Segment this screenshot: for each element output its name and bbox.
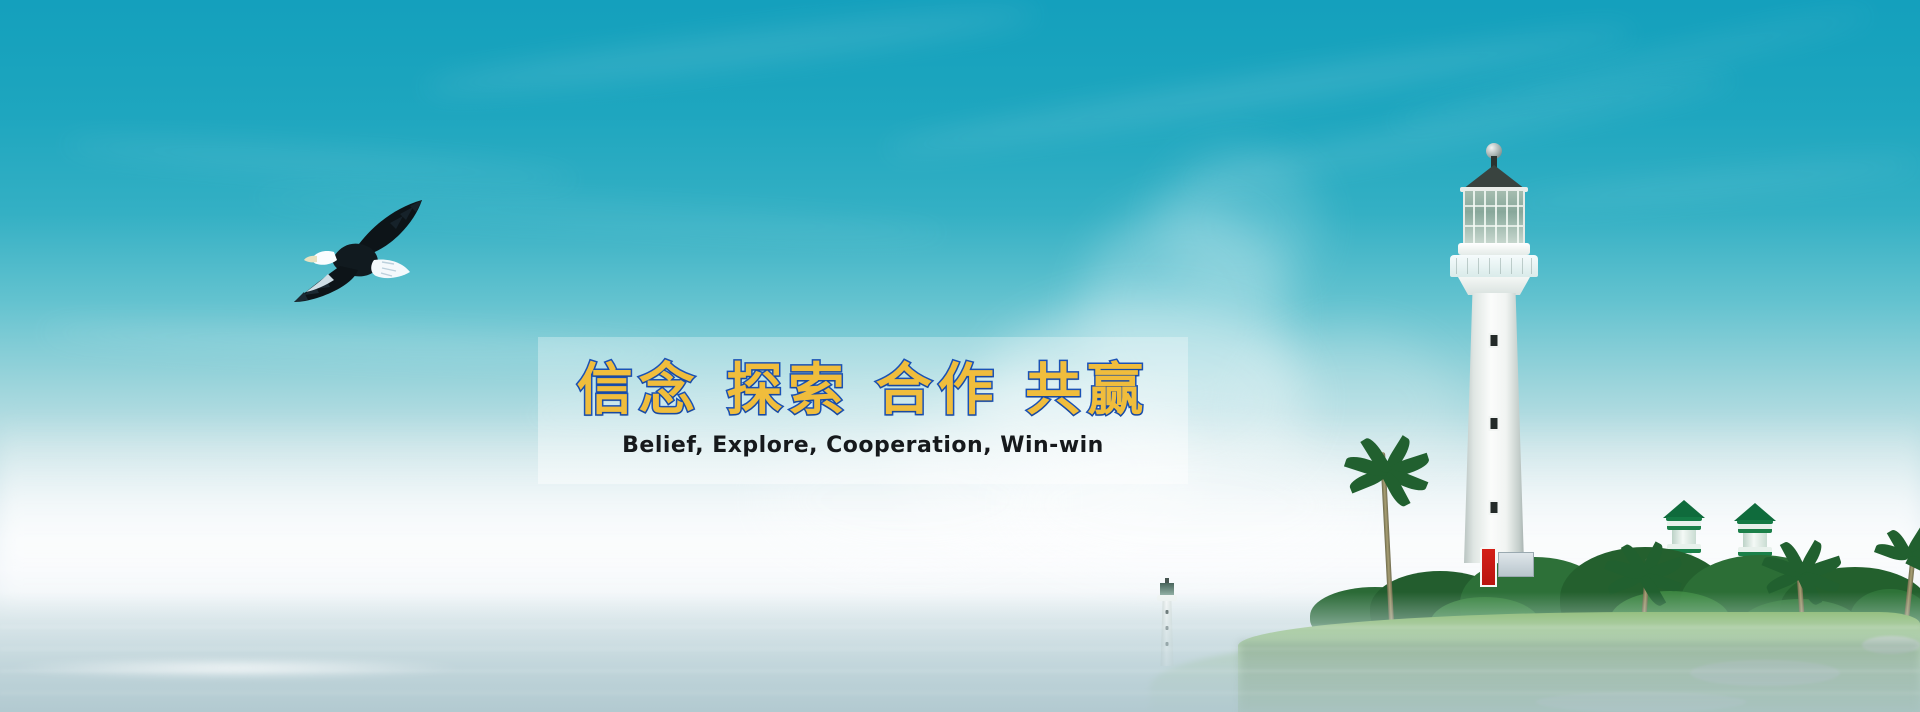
hero-banner: 信念 探索 合作 共赢 Belief, Explore, Cooperation… — [0, 0, 1920, 712]
headline-panel: 信念 探索 合作 共赢 Belief, Explore, Cooperation… — [538, 337, 1188, 484]
lighthouse-icon — [1433, 143, 1555, 563]
headline-chinese: 信念 探索 合作 共赢 — [577, 363, 1150, 419]
water-reflection — [1240, 642, 1920, 712]
shore-foam — [0, 658, 470, 678]
subtitle-english: Belief, Explore, Cooperation, Win-win — [622, 433, 1104, 458]
eagle-icon — [282, 196, 427, 316]
